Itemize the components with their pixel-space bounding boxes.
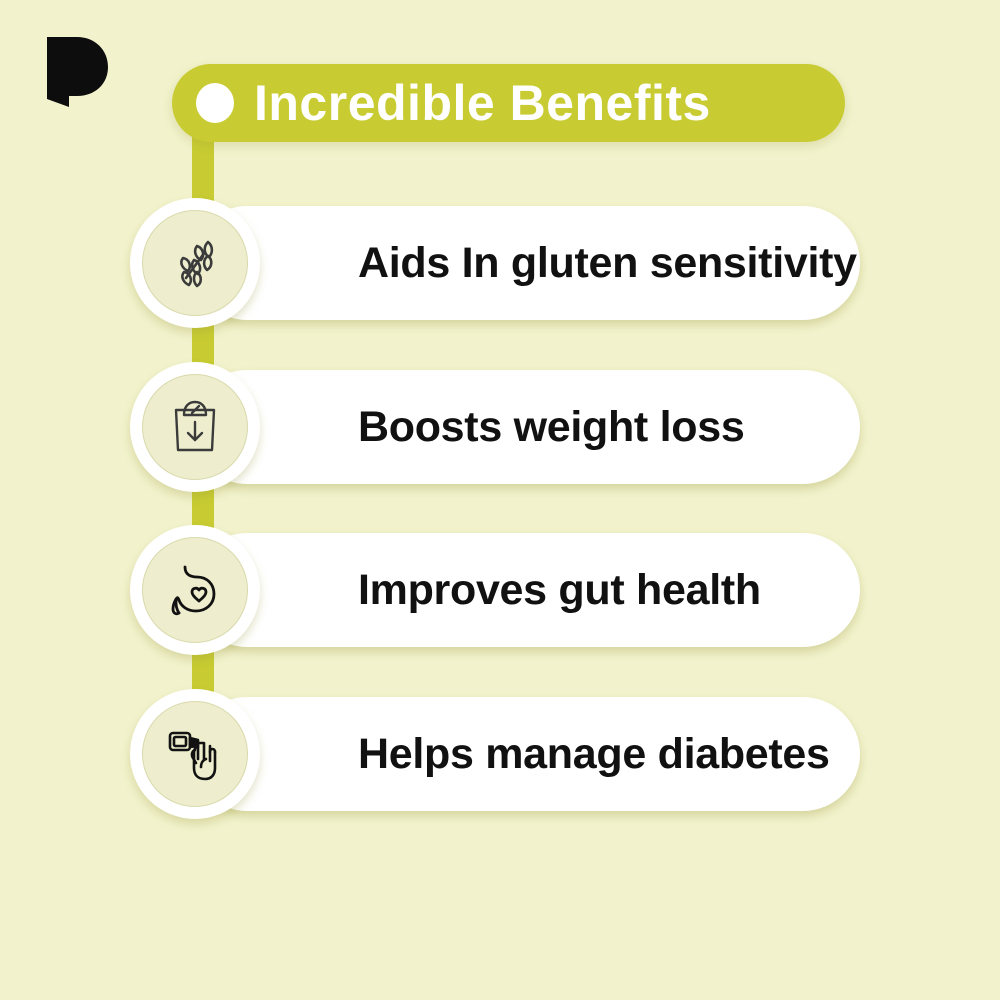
benefit-row: Improves gut health: [130, 525, 860, 655]
letter-p-logo-icon: [33, 33, 111, 111]
benefit-icon-badge: [130, 198, 260, 328]
benefit-icon-circle: [142, 374, 248, 480]
glucose-meter-hand-icon: [165, 723, 225, 785]
benefit-icon-badge: [130, 525, 260, 655]
benefit-icon-circle: [142, 537, 248, 643]
benefit-row: Helps manage diabetes: [130, 689, 860, 819]
infographic-canvas: Incredible Benefits Aids In gluten sensi…: [0, 0, 1000, 1000]
benefit-icon-badge: [130, 362, 260, 492]
benefit-label: Boosts weight loss: [358, 406, 744, 449]
header-banner: Incredible Benefits: [172, 64, 845, 142]
benefit-label: Improves gut health: [358, 569, 761, 612]
stomach-heart-icon: [165, 559, 225, 621]
benefit-icon-badge: [130, 689, 260, 819]
bullet-dot-icon: [196, 83, 234, 123]
benefit-label: Aids In gluten sensitivity: [358, 242, 857, 285]
brand-logo: [33, 33, 111, 111]
benefit-label: Helps manage diabetes: [358, 733, 830, 776]
wheat-grain-icon: [164, 232, 226, 294]
weighing-scale-down-arrow-icon: [166, 396, 224, 458]
benefit-card: Aids In gluten sensitivity: [190, 206, 860, 320]
benefit-row: Boosts weight loss: [130, 362, 860, 492]
benefit-icon-circle: [142, 210, 248, 316]
benefit-card: Boosts weight loss: [190, 370, 860, 484]
benefit-card: Helps manage diabetes: [190, 697, 860, 811]
benefit-card: Improves gut health: [190, 533, 860, 647]
page-title: Incredible Benefits: [254, 78, 711, 128]
benefit-icon-circle: [142, 701, 248, 807]
benefit-row: Aids In gluten sensitivity: [130, 198, 860, 328]
